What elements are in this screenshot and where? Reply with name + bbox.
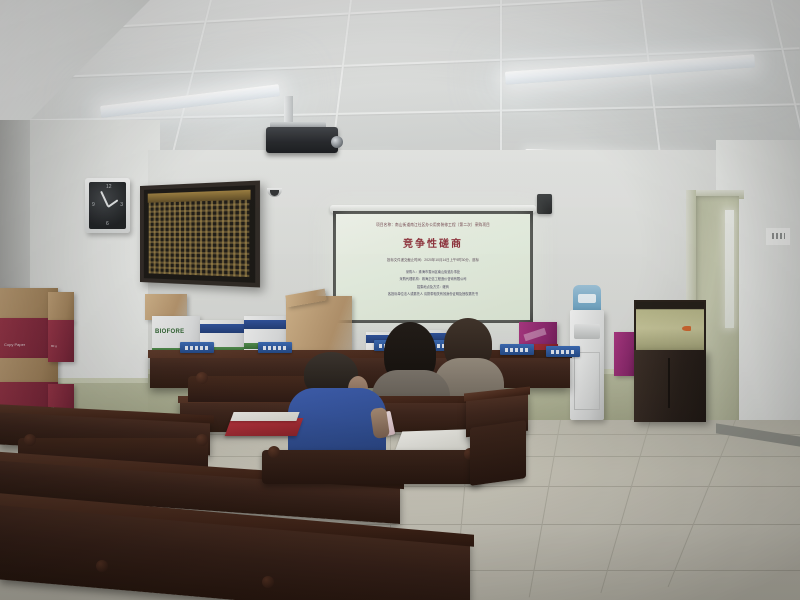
slide-body-lines: 采购人：珠海市香洲区南山街道办事处 采购代理机构：珠海正信工程造价咨询有限公司 …: [388, 269, 478, 296]
slide-line-2: 采购代理机构：珠海正信工程造价咨询有限公司: [400, 276, 467, 281]
doorway-light-strip: [725, 210, 734, 328]
name-placard-6: [546, 346, 580, 357]
wall-clock: 12 3 6 9: [85, 178, 130, 233]
slide-line-1: 采购人：珠海市香洲区南山街道办事处: [406, 269, 460, 274]
clock-number-6: 6: [106, 221, 109, 227]
copy-paper-box-3: 80 g: [48, 320, 74, 362]
plaque-texture: [149, 191, 250, 277]
weight-label-1: 80 g: [51, 344, 57, 348]
biofore-label: BIOFORE: [155, 329, 184, 335]
water-bottle-label: [578, 294, 596, 303]
dispenser-taps[interactable]: [574, 324, 600, 339]
bench-right[interactable]: [470, 420, 526, 486]
clock-minute-hand: [100, 191, 109, 207]
bench-front-row[interactable]: [262, 450, 482, 484]
name-placard-5: [500, 344, 534, 355]
bench-knob-d: [196, 434, 208, 446]
slide-header-text: 项目名称：南山街道南江社区办公用房装修工程（第二次）采购项目: [376, 223, 490, 229]
fish-tank: [634, 300, 706, 352]
meeting-room-photo: 12 3 6 9 项目名称：南山街道南江社区办公用房装修工程（第二次）采购项目 …: [0, 0, 800, 600]
slide-line-4: 各投标单位法人或委托人 请携带相关有效身份证明及授权委托书: [388, 291, 478, 296]
dispenser-door[interactable]: [574, 352, 600, 410]
projection-screen-surface: 项目名称：南山街道南江社区办公用房装修工程（第二次）采购项目 竞争性磋商 投标文…: [336, 214, 530, 320]
slide-line-3: 招集地点及方式：磋商: [417, 284, 449, 289]
name-placard-1: [180, 342, 214, 353]
wall-plaque: [140, 180, 260, 287]
paper-in-folder: [230, 412, 299, 421]
magenta-box-2: [614, 332, 636, 376]
bench-knob-h: [262, 576, 274, 588]
water-dispenser[interactable]: [570, 310, 604, 420]
kraft-box-mid: [48, 292, 74, 322]
fish-tank-cabinet[interactable]: [634, 350, 706, 422]
projector-lens: [331, 136, 343, 148]
bench-knob-g: [96, 560, 108, 572]
name-placard-2: [258, 342, 292, 353]
presentation-slide: 项目名称：南山街道南江社区办公用房装修工程（第二次）采购项目 竞争性磋商 投标文…: [344, 220, 522, 314]
ceiling-projector: [266, 127, 338, 153]
wall-speaker: [537, 194, 552, 214]
bench-knob-e: [268, 446, 280, 458]
projection-screen: 项目名称：南山街道南江社区办公用房装修工程（第二次）采购项目 竞争性磋商 投标文…: [333, 211, 533, 323]
clock-face: 12 3 6 9: [89, 182, 126, 229]
wall-sign: [766, 228, 790, 245]
clock-number-3: 3: [120, 202, 123, 208]
clock-number-12: 12: [106, 184, 112, 190]
slide-date-text: 投标文件递交截止时间：2020年10月14日上午9时30分，邀标: [387, 257, 479, 262]
fish: [682, 326, 691, 331]
bench-knob-a: [196, 372, 208, 384]
clock-number-9: 9: [92, 202, 95, 208]
magenta-box: [519, 322, 557, 344]
bench-knob-c: [24, 434, 36, 446]
slide-title-text: 竞争性磋商: [403, 235, 463, 250]
copy-paper-label-1: Copy Paper: [4, 342, 25, 347]
